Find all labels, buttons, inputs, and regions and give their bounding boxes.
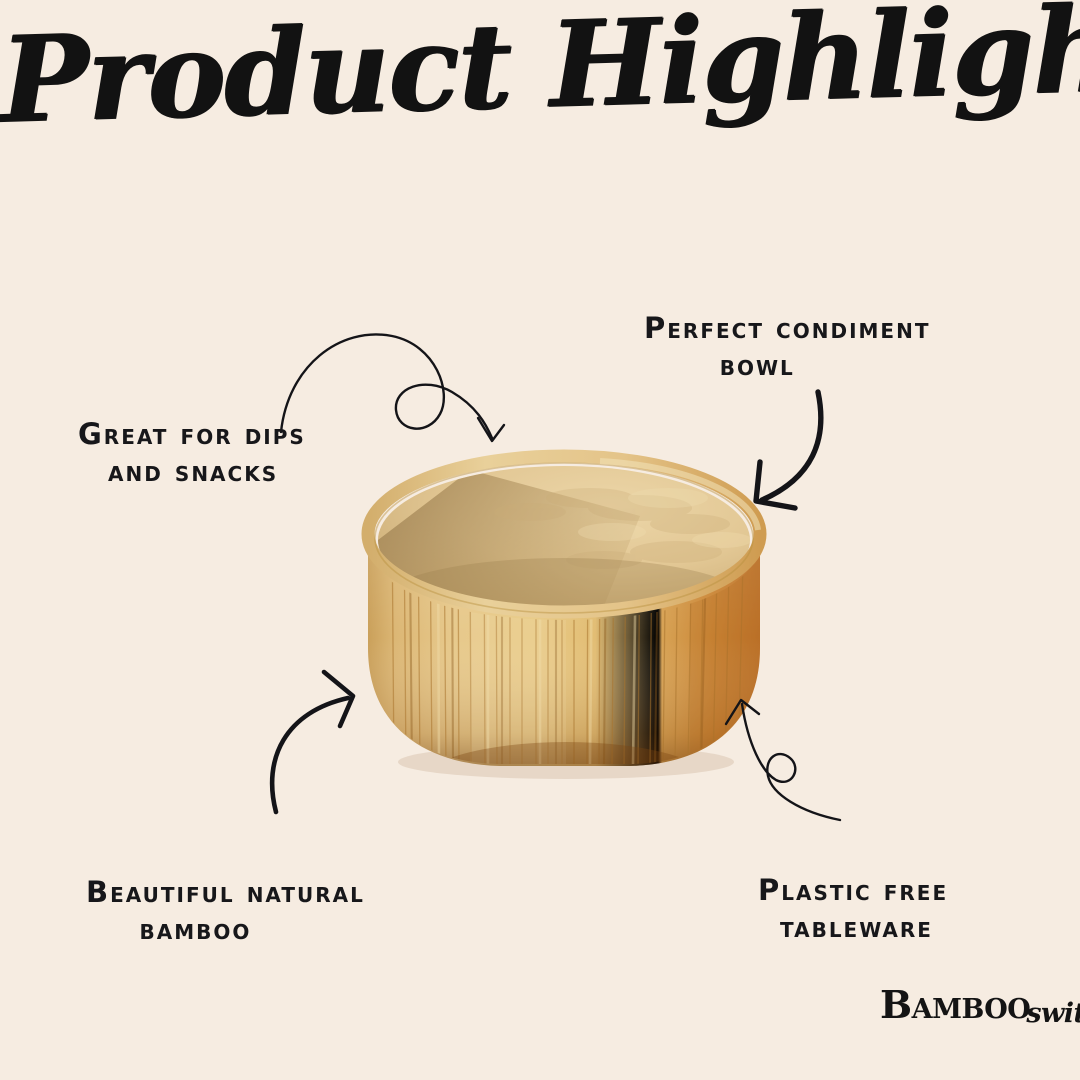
brand-name-secondary: switch [1026,998,1080,1029]
annotation-line-2: bamboo [86,911,365,949]
annotation-line-1: Beautiful natural [86,875,365,909]
annotation-perfect-condiment-bowl: Perfect condiment bowl [644,272,930,423]
annotation-beautiful-natural-bamboo: Beautiful natural bamboo [86,836,365,987]
product-highlights-poster: Product Highlights [0,0,1080,1080]
annotation-line-2: and snacks [78,453,306,491]
arrow-plastic-free-tableware [726,700,840,820]
annotation-line-1: Plastic free [758,873,948,907]
brand-name-primary: Bamboo [880,982,1030,1027]
annotation-great-for-dips: Great for dips and snacks [78,378,306,529]
annotation-line-1: Great for dips [78,417,306,451]
annotation-line-2: tableware [758,909,948,947]
annotation-plastic-free-tableware: Plastic free tableware [758,834,948,985]
annotation-line-1: Perfect condiment [644,311,930,345]
arrow-beautiful-natural-bamboo [272,672,353,812]
brand-logo: Bambooswitch [880,982,1080,1027]
annotation-line-2: bowl [644,347,930,385]
arrow-great-for-dips [281,334,504,441]
page-title: Product Highlights [0,0,1080,139]
